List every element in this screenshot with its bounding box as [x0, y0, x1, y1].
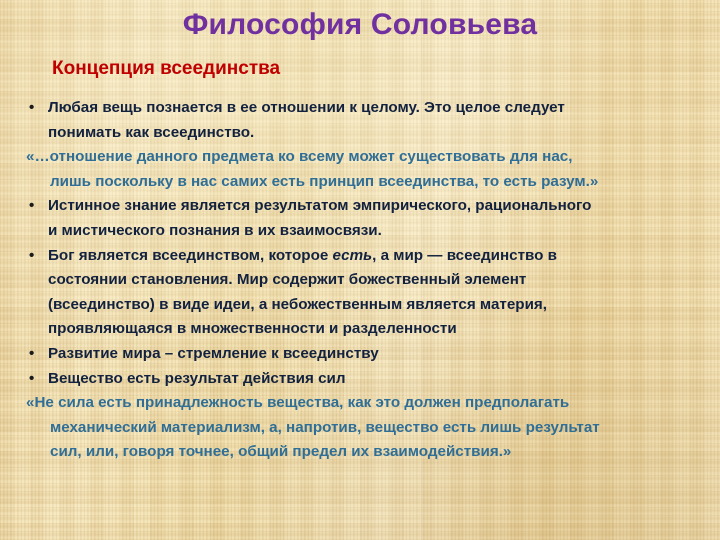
quotation-continuation-line: лишь поскольку в нас самих есть принцип …: [16, 170, 688, 195]
quotation-continuation-line: механический материализм, а, напротив, в…: [16, 416, 688, 441]
bullet-point-icon: •: [29, 342, 43, 367]
bullet-text: Развитие мира – стремление к всеединству: [48, 345, 379, 362]
quotation-continuation-line: сил, или, говоря точнее, общий предел их…: [16, 440, 688, 465]
bullet-text: Любая вещь познается в ее отношении к це…: [48, 99, 565, 116]
slide-body: •Любая вещь познается в ее отношении к ц…: [16, 96, 688, 465]
bullet-list-item: •Любая вещь познается в ее отношении к ц…: [16, 96, 688, 121]
emphasis-text: есть: [333, 247, 373, 264]
bullet-text: Вещество есть результат действия сил: [48, 370, 346, 387]
bullet-text: (всеединство) в виде идеи, а небожествен…: [48, 296, 547, 313]
bullet-continuation-line: проявляющаяся в множественности и раздел…: [16, 317, 688, 342]
bullet-text: понимать как всеединство.: [48, 124, 254, 141]
bullet-text: проявляющаяся в множественности и раздел…: [48, 320, 457, 337]
bullet-continuation-line: (всеединство) в виде идеи, а небожествен…: [16, 293, 688, 318]
bullet-list-item: •Бог является всеединством, которое есть…: [16, 244, 688, 269]
bullet-list-item: •Развитие мира – стремление к всеединств…: [16, 342, 688, 367]
bullet-text: Бог является всеединством, которое есть,…: [48, 247, 557, 264]
page-title: Философия Соловьева: [0, 6, 720, 44]
bullet-point-icon: •: [29, 244, 43, 269]
bullet-text: Истинное знание является результатом эмп…: [48, 197, 591, 214]
slide-subtitle: Концепция всеединства: [52, 57, 280, 81]
quotation-line: «Не сила есть принадлежность вещества, к…: [16, 391, 688, 416]
presentation-slide: Философия Соловьева Концепция всеединств…: [0, 0, 720, 540]
quotation-line: «…отношение данного предмета ко всему мо…: [16, 145, 688, 170]
bullet-list-item: •Вещество есть результат действия сил: [16, 367, 688, 392]
bullet-continuation-line: понимать как всеединство.: [16, 121, 688, 146]
bullet-point-icon: •: [29, 96, 43, 121]
bullet-text: состоянии становления. Мир содержит боже…: [48, 271, 526, 288]
slide-content: Философия Соловьева Концепция всеединств…: [0, 0, 720, 540]
bullet-point-icon: •: [29, 194, 43, 219]
bullet-point-icon: •: [29, 367, 43, 392]
bullet-continuation-line: состоянии становления. Мир содержит боже…: [16, 268, 688, 293]
bullet-continuation-line: и мистического познания в их взаимосвязи…: [16, 219, 688, 244]
bullet-text: и мистического познания в их взаимосвязи…: [48, 222, 382, 239]
bullet-list-item: •Истинное знание является результатом эм…: [16, 194, 688, 219]
